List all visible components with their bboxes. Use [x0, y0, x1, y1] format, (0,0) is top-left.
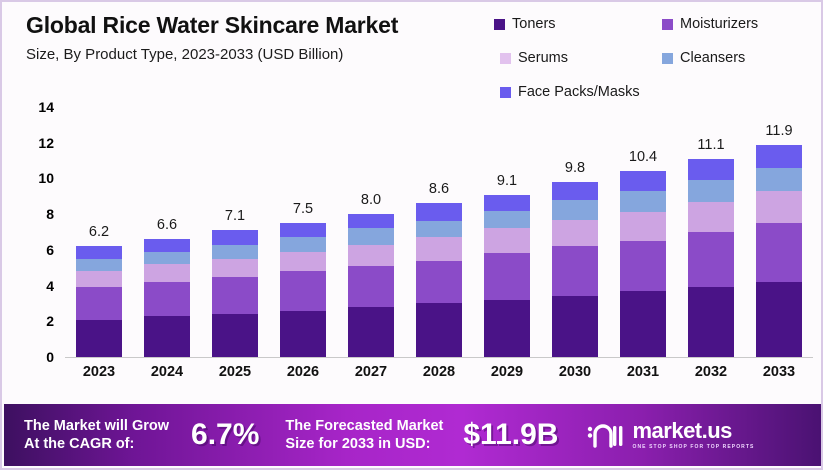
- x-axis-line: [65, 357, 813, 358]
- bar-value-label: 11.1: [677, 137, 745, 153]
- bar-segment-face-packs-masks[interactable]: [620, 171, 666, 191]
- legend-swatch-icon: [500, 53, 511, 64]
- bar-segment-serums[interactable]: [688, 202, 734, 232]
- bar-segment-cleansers[interactable]: [688, 180, 734, 201]
- x-axis-label: 2030: [541, 364, 609, 390]
- stacked-bar[interactable]: [416, 203, 462, 357]
- bar-segment-moisturizers[interactable]: [348, 266, 394, 307]
- x-axis-label: 2027: [337, 364, 405, 390]
- bar-value-label: 6.6: [133, 217, 201, 233]
- bar-segment-moisturizers[interactable]: [76, 287, 122, 319]
- bar-column[interactable]: 11.1: [677, 107, 745, 357]
- stacked-bar[interactable]: [620, 171, 666, 357]
- bar-segment-face-packs-masks[interactable]: [76, 246, 122, 259]
- bar-value-label: 7.1: [201, 208, 269, 224]
- bar-segment-toners[interactable]: [144, 316, 190, 357]
- x-axis-label: 2028: [405, 364, 473, 390]
- bar-segment-toners[interactable]: [756, 282, 802, 357]
- bar-segment-moisturizers[interactable]: [552, 246, 598, 296]
- bar-segment-moisturizers[interactable]: [144, 282, 190, 316]
- legend-item-face-packs-masks[interactable]: Face Packs/Masks: [500, 84, 640, 100]
- bar-segment-cleansers[interactable]: [144, 252, 190, 265]
- bar-column[interactable]: 7.1: [201, 107, 269, 357]
- bar-series-area: 6.26.67.17.58.08.69.19.810.411.111.9: [65, 107, 813, 357]
- bar-segment-moisturizers[interactable]: [756, 223, 802, 282]
- logo-name: market.us: [632, 420, 754, 442]
- bar-segment-toners[interactable]: [484, 300, 530, 357]
- x-axis-label: 2024: [133, 364, 201, 390]
- bar-segment-serums[interactable]: [484, 228, 530, 253]
- bar-segment-serums[interactable]: [76, 271, 122, 287]
- bar-column[interactable]: 8.6: [405, 107, 473, 357]
- legend-item-serums[interactable]: Serums: [500, 50, 568, 66]
- x-axis-label: 2026: [269, 364, 337, 390]
- y-axis: 02468101214: [22, 107, 54, 357]
- y-axis-tick: 6: [46, 242, 54, 258]
- stacked-bar[interactable]: [76, 246, 122, 357]
- bar-segment-cleansers[interactable]: [348, 228, 394, 244]
- bar-value-label: 8.6: [405, 181, 473, 197]
- bar-column[interactable]: 6.6: [133, 107, 201, 357]
- bar-segment-cleansers[interactable]: [484, 211, 530, 229]
- bar-value-label: 6.2: [65, 224, 133, 240]
- bar-segment-face-packs-masks[interactable]: [144, 239, 190, 252]
- bar-segment-serums[interactable]: [552, 220, 598, 247]
- bar-segment-serums[interactable]: [280, 252, 326, 272]
- bar-segment-face-packs-masks[interactable]: [280, 223, 326, 237]
- bar-segment-toners[interactable]: [620, 291, 666, 357]
- bar-value-label: 11.9: [745, 123, 813, 139]
- y-axis-tick: 12: [38, 135, 54, 151]
- bar-column[interactable]: 8.0: [337, 107, 405, 357]
- chart-legend: TonersMoisturizersSerumsCleansersFace Pa…: [494, 10, 820, 98]
- legend-label: Serums: [518, 50, 568, 66]
- bar-segment-cleansers[interactable]: [280, 237, 326, 251]
- bar-segment-toners[interactable]: [212, 314, 258, 357]
- stacked-bar[interactable]: [348, 214, 394, 357]
- bar-segment-moisturizers[interactable]: [620, 241, 666, 291]
- bar-segment-face-packs-masks[interactable]: [484, 195, 530, 211]
- stacked-bar[interactable]: [552, 182, 598, 357]
- bar-segment-face-packs-masks[interactable]: [756, 145, 802, 168]
- x-axis-label: 2033: [745, 364, 813, 390]
- bar-column[interactable]: 11.9: [745, 107, 813, 357]
- forecast-size-label: The Forecasted Market Size for 2033 in U…: [285, 417, 443, 453]
- bar-segment-moisturizers[interactable]: [484, 253, 530, 299]
- y-axis-tick: 10: [38, 170, 54, 186]
- stacked-bar[interactable]: [280, 223, 326, 357]
- bar-segment-toners[interactable]: [76, 320, 122, 358]
- bar-value-label: 10.4: [609, 149, 677, 165]
- legend-swatch-icon: [662, 19, 673, 30]
- x-axis-label: 2023: [65, 364, 133, 390]
- bar-segment-moisturizers[interactable]: [688, 232, 734, 287]
- bar-value-label: 7.5: [269, 201, 337, 217]
- bar-column[interactable]: 6.2: [65, 107, 133, 357]
- bar-segment-cleansers[interactable]: [552, 200, 598, 220]
- bar-segment-toners[interactable]: [280, 311, 326, 357]
- legend-label: Moisturizers: [680, 16, 758, 32]
- summary-banner: The Market will Grow At the CAGR of: 6.7…: [4, 404, 821, 466]
- bar-value-label: 9.8: [541, 160, 609, 176]
- logo-tagline: ONE STOP SHOP FOR TOP REPORTS: [632, 445, 754, 450]
- legend-label: Cleansers: [680, 50, 745, 66]
- legend-item-moisturizers[interactable]: Moisturizers: [662, 16, 758, 32]
- x-axis-label: 2025: [201, 364, 269, 390]
- bar-segment-moisturizers[interactable]: [212, 277, 258, 315]
- legend-label: Face Packs/Masks: [518, 84, 640, 100]
- legend-swatch-icon: [494, 19, 505, 30]
- bar-segment-moisturizers[interactable]: [416, 261, 462, 304]
- bar-segment-serums[interactable]: [212, 259, 258, 277]
- bar-segment-serums[interactable]: [348, 245, 394, 266]
- y-axis-tick: 2: [46, 313, 54, 329]
- brand-logo[interactable]: market.us ONE STOP SHOP FOR TOP REPORTS: [586, 420, 754, 450]
- chart-infographic: Global Rice Water Skincare Market Size, …: [0, 0, 823, 470]
- bar-value-label: 9.1: [473, 173, 541, 189]
- forecast-size-value: $11.9B: [463, 418, 558, 452]
- bar-segment-toners[interactable]: [348, 307, 394, 357]
- stacked-bar[interactable]: [144, 239, 190, 357]
- page-title: Global Rice Water Skincare Market: [26, 12, 398, 39]
- x-axis-label: 2032: [677, 364, 745, 390]
- market-us-mark-icon: [586, 420, 624, 450]
- bar-value-label: 8.0: [337, 192, 405, 208]
- bar-segment-serums[interactable]: [756, 191, 802, 223]
- forecast-size-label-line2: Size for 2033 in USD:: [285, 435, 443, 453]
- cagr-label: The Market will Grow At the CAGR of:: [24, 417, 169, 453]
- legend-swatch-icon: [662, 53, 673, 64]
- stacked-bar[interactable]: [756, 145, 802, 358]
- bar-segment-face-packs-masks[interactable]: [688, 159, 734, 180]
- y-axis-tick: 0: [46, 349, 54, 365]
- bar-column[interactable]: 10.4: [609, 107, 677, 357]
- forecast-size-label-line1: The Forecasted Market: [285, 417, 443, 435]
- bar-segment-cleansers[interactable]: [212, 245, 258, 259]
- y-axis-tick: 4: [46, 278, 54, 294]
- bar-segment-face-packs-masks[interactable]: [212, 230, 258, 244]
- bar-column[interactable]: 9.1: [473, 107, 541, 357]
- bar-segment-toners[interactable]: [688, 287, 734, 357]
- x-axis-label: 2029: [473, 364, 541, 390]
- legend-item-cleansers[interactable]: Cleansers: [662, 50, 745, 66]
- cagr-label-line2: At the CAGR of:: [24, 435, 169, 453]
- stacked-bar[interactable]: [212, 230, 258, 357]
- bar-segment-serums[interactable]: [416, 237, 462, 260]
- bar-segment-cleansers[interactable]: [76, 259, 122, 272]
- bar-segment-toners[interactable]: [552, 296, 598, 357]
- cagr-label-line1: The Market will Grow: [24, 417, 169, 435]
- bar-segment-moisturizers[interactable]: [280, 271, 326, 310]
- legend-item-toners[interactable]: Toners: [494, 16, 556, 32]
- bar-segment-face-packs-masks[interactable]: [348, 214, 394, 228]
- bar-segment-cleansers[interactable]: [416, 221, 462, 237]
- y-axis-tick: 8: [46, 206, 54, 222]
- bar-segment-toners[interactable]: [416, 303, 462, 357]
- bar-segment-face-packs-masks[interactable]: [416, 203, 462, 221]
- cagr-value: 6.7%: [191, 418, 259, 452]
- legend-swatch-icon: [500, 87, 511, 98]
- y-axis-tick: 14: [38, 99, 54, 115]
- stacked-bar[interactable]: [484, 195, 530, 358]
- bar-segment-face-packs-masks[interactable]: [552, 182, 598, 200]
- bar-segment-serums[interactable]: [620, 212, 666, 241]
- bar-column[interactable]: 9.8: [541, 107, 609, 357]
- stacked-bar[interactable]: [688, 159, 734, 357]
- chart-subtitle: Size, By Product Type, 2023-2033 (USD Bi…: [26, 46, 343, 63]
- x-axis-labels: 2023202420252026202720282029203020312032…: [65, 364, 813, 390]
- x-axis-label: 2031: [609, 364, 677, 390]
- bar-segment-cleansers[interactable]: [620, 191, 666, 212]
- legend-label: Toners: [512, 16, 556, 32]
- bar-segment-cleansers[interactable]: [756, 168, 802, 191]
- bar-column[interactable]: 7.5: [269, 107, 337, 357]
- bar-segment-serums[interactable]: [144, 264, 190, 282]
